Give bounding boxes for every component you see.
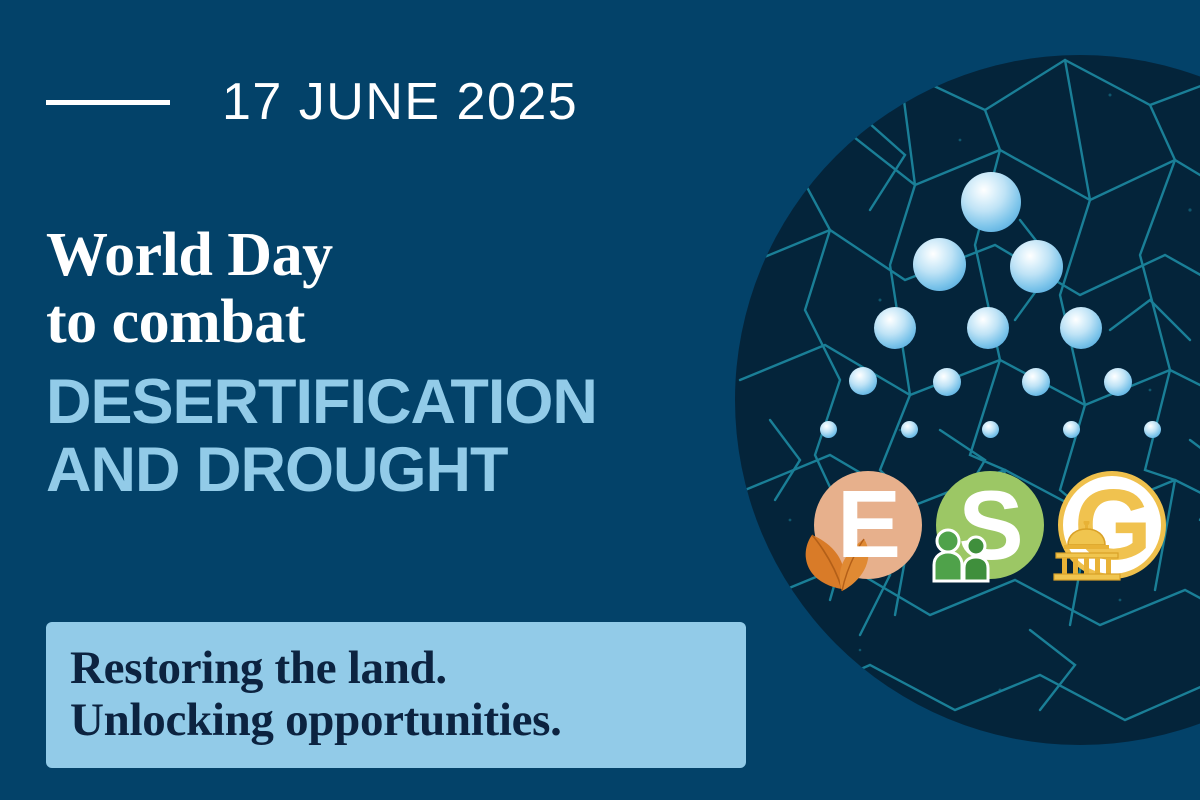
esg-badge-governance[interactable]: G <box>1058 471 1166 579</box>
poster-canvas: E S G <box>0 0 1200 800</box>
esg-logo-group: E S G <box>0 0 1200 800</box>
esg-badge-social[interactable]: S <box>936 471 1044 579</box>
esg-badge-environmental[interactable]: E <box>814 471 922 579</box>
people-icon <box>932 527 998 583</box>
government-building-icon <box>1050 521 1124 583</box>
esg-e-letter: E <box>814 471 922 579</box>
